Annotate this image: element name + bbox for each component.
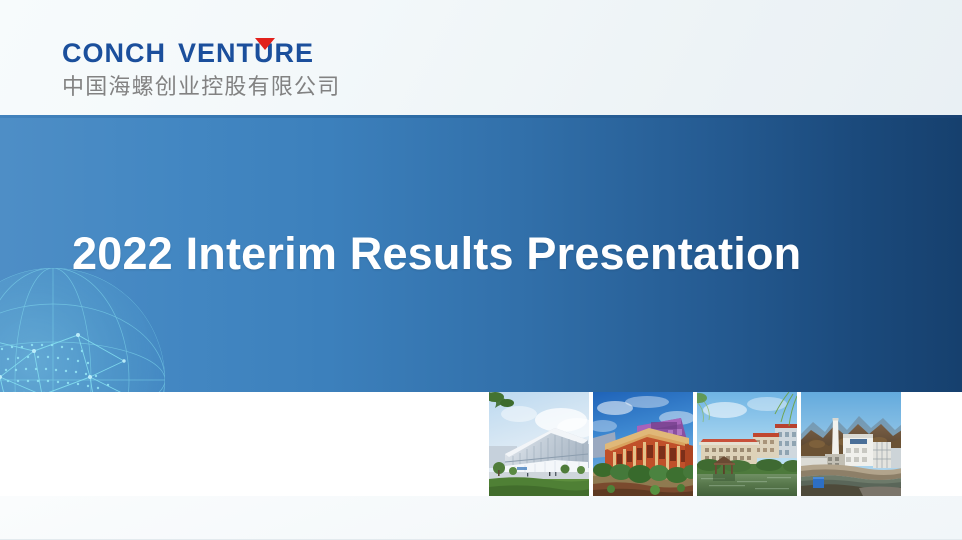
photo-industrial-plant-in-mountains [801,392,901,496]
photo-modern-office-building [489,392,589,496]
logo-wordmark: CONCHVENTURE [62,40,362,69]
red-triangle-icon [255,38,275,50]
slide-footer [0,496,962,540]
logo-wordmark-venture: VENTURE [178,38,314,68]
title-container: 2022 Interim Results Presentation [0,115,962,392]
title-band: 2022 Interim Results Presentation [0,115,962,392]
slide-header: CONCHVENTURE 中国海螺创业控股有限公司 [0,0,962,115]
company-logo: CONCHVENTURE 中国海螺创业控股有限公司 [62,40,362,102]
presentation-slide: CONCHVENTURE 中国海螺创业控股有限公司 [0,0,962,540]
logo-wordmark-conch: CONCH [62,38,166,68]
photo-red-brick-heritage-building [593,392,693,496]
photo-strip [489,392,901,496]
logo-chinese-name: 中国海螺创业控股有限公司 [62,75,362,101]
photo-campus-by-the-lake [697,392,797,496]
slide-title: 2022 Interim Results Presentation [0,229,801,279]
